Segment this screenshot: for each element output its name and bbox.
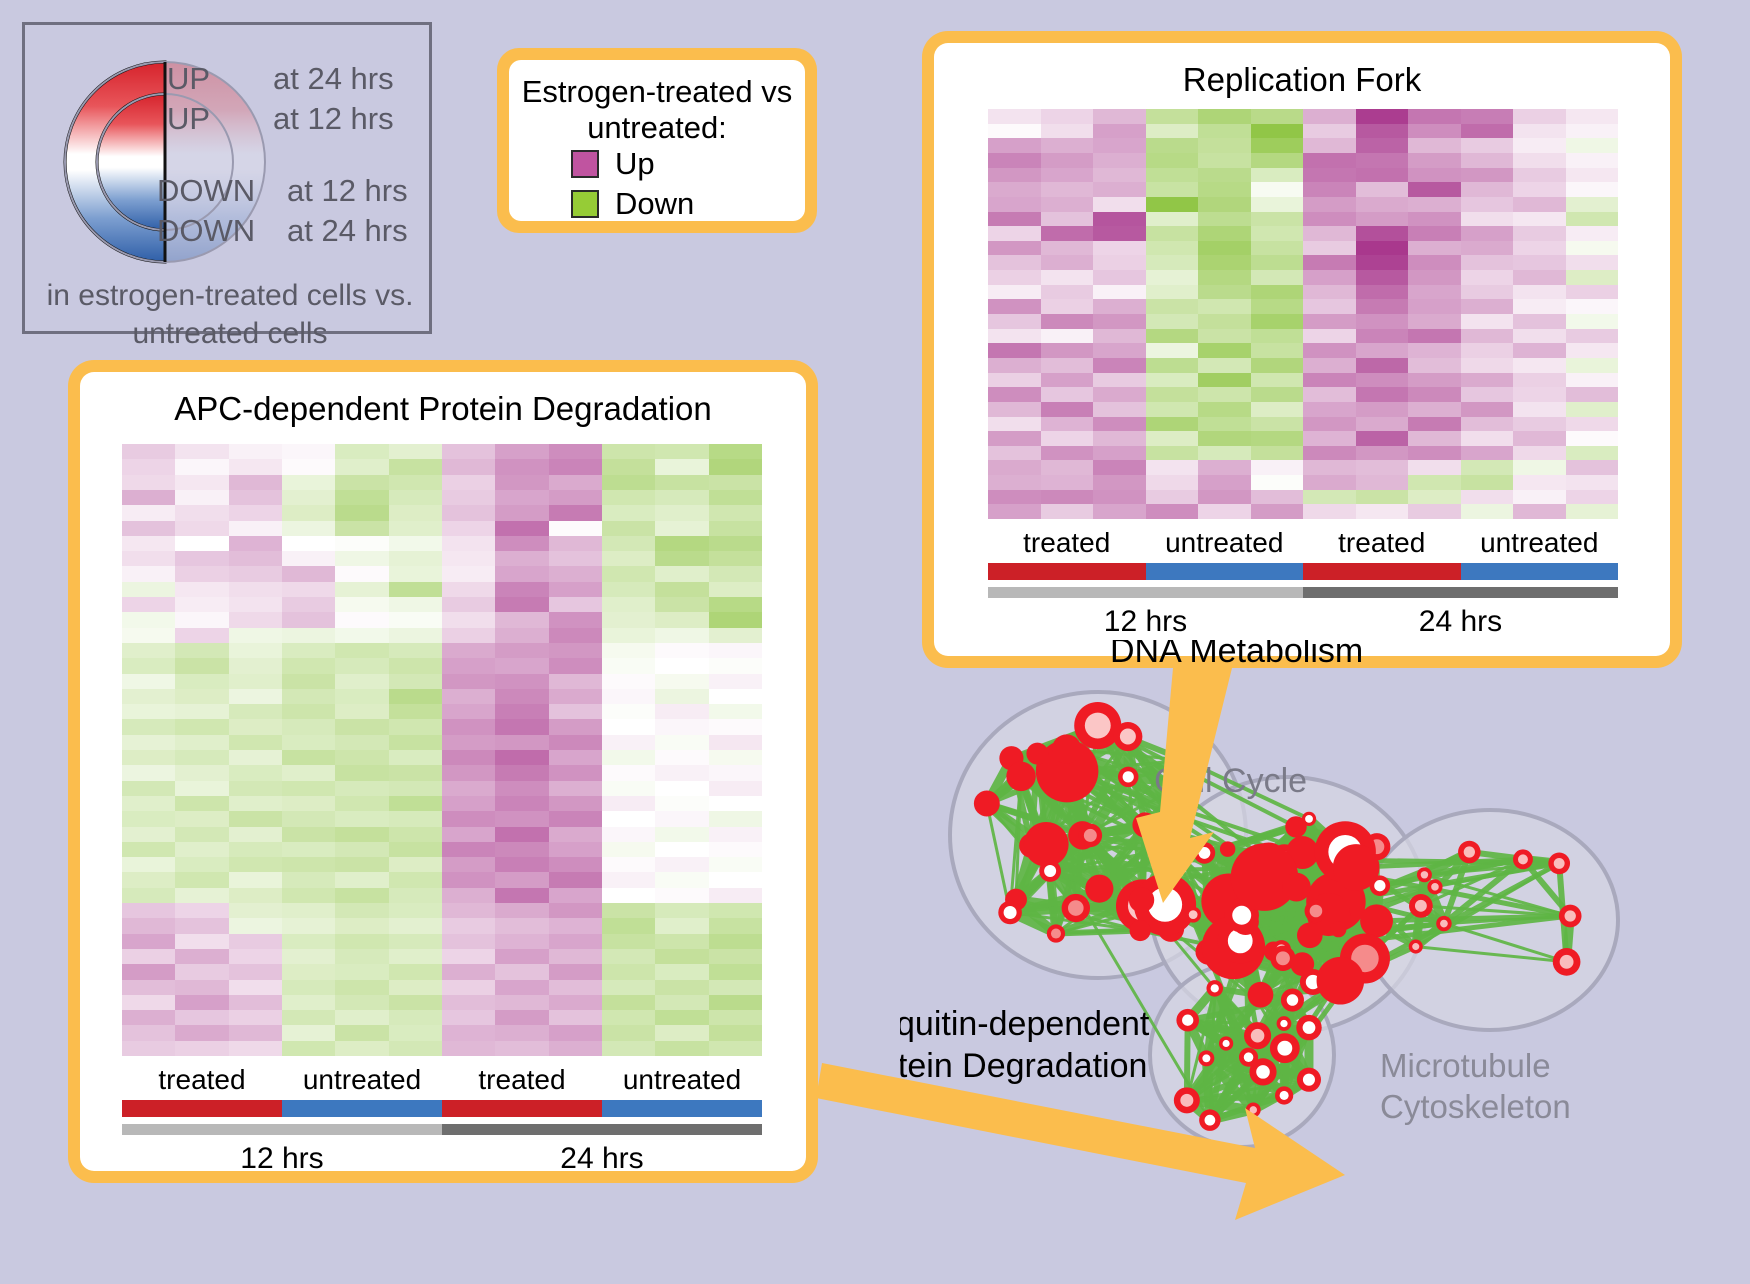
- heatmap-cell: [1251, 197, 1304, 212]
- heatmap-cell: [495, 674, 548, 689]
- heatmap-cell: [1093, 124, 1146, 139]
- heatmap-cell: [1566, 299, 1619, 314]
- node-core: [1415, 900, 1427, 912]
- heatmap-cell: [1303, 255, 1356, 270]
- node-disc: [1024, 822, 1069, 867]
- heatmap-cell: [709, 980, 762, 995]
- network-node[interactable]: [1370, 875, 1391, 896]
- heatmap-cell: [602, 980, 655, 995]
- heatmap-cell: [229, 444, 282, 459]
- network-node[interactable]: [1248, 982, 1274, 1008]
- colorkey-down12-time: at 12 hrs: [287, 173, 408, 209]
- network-node[interactable]: [1198, 1050, 1214, 1066]
- heatmap-cell: [1198, 153, 1251, 168]
- heatmap-cell: [495, 459, 548, 474]
- network-node[interactable]: [1219, 1036, 1233, 1050]
- heatmap-cell: [335, 1010, 388, 1025]
- heatmap-cell: [442, 475, 495, 490]
- heatmap-cell: [282, 918, 335, 933]
- heatmap-cell: [495, 1041, 548, 1056]
- network-node[interactable]: [1458, 841, 1481, 864]
- heatmap-cell: [1146, 504, 1199, 519]
- heatmap-cell: [1408, 109, 1461, 124]
- heatmap-cell: [1566, 153, 1619, 168]
- heatmap-cell: [1251, 373, 1304, 388]
- heatmap-cell: [442, 903, 495, 918]
- heatmap-cell: [175, 750, 228, 765]
- heatmap-cell: [282, 521, 335, 536]
- network-node[interactable]: [1199, 1109, 1220, 1130]
- heatmap-cell: [122, 964, 175, 979]
- network-node[interactable]: [1275, 1086, 1293, 1104]
- heatmap-cell: [175, 521, 228, 536]
- heatmap-cell: [655, 459, 708, 474]
- heatmap-cell: [442, 781, 495, 796]
- heatmap-cell: [602, 704, 655, 719]
- network-node[interactable]: [1156, 840, 1175, 859]
- network-node[interactable]: [1427, 879, 1442, 894]
- heatmap-cell: [1041, 402, 1094, 417]
- heatmap-cell: [1146, 373, 1199, 388]
- heatmap-cell: [1198, 255, 1251, 270]
- network-node[interactable]: [998, 901, 1022, 925]
- heatmap-cell: [988, 373, 1041, 388]
- heatmap-cell: [1093, 255, 1146, 270]
- heatmap-cell: [1198, 109, 1251, 124]
- heatmap-cell: [229, 536, 282, 551]
- network-node[interactable]: [1185, 907, 1201, 923]
- heatmap-cell: [122, 643, 175, 658]
- heatmap-cell: [175, 490, 228, 505]
- heatmap-cell: [442, 551, 495, 566]
- network-node[interactable]: [1024, 822, 1069, 867]
- heatmap-cell: [1093, 343, 1146, 358]
- heatmap-cell: [1041, 314, 1094, 329]
- heatmap-cell: [389, 1010, 442, 1025]
- heatmap-cell: [389, 796, 442, 811]
- network-node[interactable]: [1118, 767, 1138, 787]
- heatmap-cell: [602, 750, 655, 765]
- node-disc: [1085, 875, 1113, 903]
- heatmap-cell: [335, 1041, 388, 1056]
- node-disc: [1132, 812, 1157, 837]
- network-node[interactable]: [1220, 841, 1236, 857]
- heatmap-cell: [389, 811, 442, 826]
- node-core: [1182, 1015, 1193, 1026]
- heatmap-cell: [1513, 373, 1566, 388]
- network-node[interactable]: [1062, 894, 1090, 922]
- replication-fork-panel: Replication Fork treateduntreatedtreated…: [922, 31, 1682, 668]
- heatmap-cell: [1303, 373, 1356, 388]
- heatmap-cell: [495, 536, 548, 551]
- heatmap-cell: [442, 980, 495, 995]
- network-node[interactable]: [1129, 887, 1154, 912]
- heatmap-cell: [442, 842, 495, 857]
- network-node[interactable]: [1417, 867, 1432, 882]
- heatmap-cell: [602, 566, 655, 581]
- heatmap-cell: [1408, 255, 1461, 270]
- network-node[interactable]: [1206, 980, 1223, 997]
- heatmap-cell: [602, 1041, 655, 1056]
- heatmap-cell: [282, 475, 335, 490]
- heatmap-cell: [122, 689, 175, 704]
- heatmap-cell: [1461, 343, 1514, 358]
- heatmap-cell: [602, 949, 655, 964]
- network-node[interactable]: [1296, 1015, 1321, 1040]
- heatmap-cell: [709, 903, 762, 918]
- heatmap-cell: [602, 934, 655, 949]
- heatmap-cell: [229, 781, 282, 796]
- apc-title: APC-dependent Protein Degradation: [80, 390, 806, 428]
- time-label: 24 hrs: [442, 1142, 762, 1176]
- heatmap-cell: [1408, 299, 1461, 314]
- heatmap-cell: [655, 811, 708, 826]
- heatmap-cell: [1303, 299, 1356, 314]
- network-node[interactable]: [1409, 940, 1423, 954]
- heatmap-cell: [1041, 109, 1094, 124]
- heatmap-cell: [122, 459, 175, 474]
- heatmap-cell: [229, 796, 282, 811]
- network-label-dna-metabolism: DNA Metabolism: [1110, 640, 1363, 670]
- network-node[interactable]: [1553, 948, 1581, 976]
- heatmap-cell: [1251, 109, 1304, 124]
- node-disc: [1317, 957, 1365, 1005]
- node-disc: [1297, 922, 1323, 948]
- heatmap-cell: [1251, 124, 1304, 139]
- heatmap-cell: [709, 505, 762, 520]
- heatmap-cell: [389, 735, 442, 750]
- heatmap-cell: [1198, 212, 1251, 227]
- heatmap-cell: [1041, 270, 1094, 285]
- heatmap-cell: [495, 689, 548, 704]
- network-node[interactable]: [1039, 860, 1061, 882]
- heatmap-cell: [1251, 460, 1304, 475]
- heatmap-cell: [1461, 402, 1514, 417]
- heatmap-cell: [335, 521, 388, 536]
- heatmap-cell: [389, 521, 442, 536]
- network-node[interactable]: [1132, 812, 1157, 837]
- heatmap-cell: [549, 521, 602, 536]
- heatmap-cell: [389, 934, 442, 949]
- heatmap-cell: [229, 582, 282, 597]
- heatmap-cell: [442, 918, 495, 933]
- heatmap-cell: [282, 628, 335, 643]
- heatmap-cell: [1461, 124, 1514, 139]
- heatmap-cell: [655, 612, 708, 627]
- heatmap-cell: [335, 704, 388, 719]
- heatmap-cell: [175, 888, 228, 903]
- network-node[interactable]: [1270, 1033, 1300, 1063]
- network-node[interactable]: [1305, 900, 1328, 923]
- heatmap-cell: [122, 811, 175, 826]
- replication-fork-condition-bar: [988, 563, 1618, 580]
- heatmap-cell: [602, 781, 655, 796]
- heatmap-cell: [549, 781, 602, 796]
- heatmap-cell: [549, 536, 602, 551]
- heatmap-cell: [495, 628, 548, 643]
- heatmap-cell: [549, 918, 602, 933]
- heatmap-cell: [495, 765, 548, 780]
- heatmap-cell: [389, 842, 442, 857]
- node-core: [1303, 1074, 1315, 1086]
- heatmap-cell: [602, 521, 655, 536]
- node-disc: [1130, 920, 1151, 941]
- heatmap-cell: [1041, 241, 1094, 256]
- heatmap-cell: [442, 735, 495, 750]
- heatmap-cell: [122, 521, 175, 536]
- heatmap-cell: [1303, 270, 1356, 285]
- heatmap-cell: [709, 719, 762, 734]
- heatmap-cell: [549, 888, 602, 903]
- network-node[interactable]: [1079, 824, 1103, 848]
- heatmap-cell: [549, 444, 602, 459]
- heatmap-cell: [1303, 109, 1356, 124]
- network-node[interactable]: [1559, 905, 1582, 928]
- heatmap-cell: [655, 918, 708, 933]
- heatmap-cell: [495, 811, 548, 826]
- heatmap-cell: [442, 872, 495, 887]
- node-core: [1256, 1065, 1270, 1079]
- node-core: [1051, 929, 1061, 939]
- condition-bar-segment: [988, 563, 1146, 580]
- heatmap-cell: [549, 658, 602, 673]
- network-node[interactable]: [1074, 702, 1121, 749]
- heatmap-cell: [988, 504, 1041, 519]
- heatmap-cell: [1251, 329, 1304, 344]
- heatmap-cell: [1303, 475, 1356, 490]
- heatmap-cell: [122, 1041, 175, 1056]
- network-node[interactable]: [1297, 1068, 1321, 1092]
- heatmap-cell: [442, 796, 495, 811]
- heatmap-cell: [988, 358, 1041, 373]
- network-node[interactable]: [1006, 762, 1035, 791]
- network-node[interactable]: [1317, 957, 1365, 1005]
- heatmap-cell: [389, 964, 442, 979]
- heatmap-cell: [549, 827, 602, 842]
- heatmap-cell: [1513, 255, 1566, 270]
- heatmap-cell: [655, 582, 708, 597]
- heatmap-cell: [655, 490, 708, 505]
- heatmap-cell: [495, 582, 548, 597]
- network-node[interactable]: [1436, 916, 1451, 931]
- network-node[interactable]: [1047, 924, 1065, 942]
- heatmap-cell: [442, 628, 495, 643]
- heatmap-cell: [549, 475, 602, 490]
- heatmap-cell: [1198, 387, 1251, 402]
- heatmap-cell: [1513, 490, 1566, 505]
- condition-label: treated: [122, 1064, 282, 1096]
- network-node[interactable]: [1194, 842, 1216, 864]
- node-core: [1280, 1091, 1289, 1100]
- heatmap-cell: [282, 781, 335, 796]
- heatmap-cell: [1513, 417, 1566, 432]
- heatmap-cell: [495, 704, 548, 719]
- heatmap-cell: [1198, 285, 1251, 300]
- heatmap-cell: [1198, 446, 1251, 461]
- heatmap-cell: [1408, 417, 1461, 432]
- heatmap-cell: [1146, 212, 1199, 227]
- heatmap-cell: [175, 949, 228, 964]
- heatmap-cell: [282, 934, 335, 949]
- network-node[interactable]: [1513, 849, 1533, 869]
- heatmap-cell: [495, 505, 548, 520]
- network-node[interactable]: [1085, 875, 1113, 903]
- heatmap-cell: [1041, 138, 1094, 153]
- network-node[interactable]: [1246, 1102, 1261, 1117]
- heatmap-cell: [709, 857, 762, 872]
- heatmap-cell: [389, 980, 442, 995]
- network-node[interactable]: [1239, 1048, 1258, 1067]
- heatmap-cell: [988, 226, 1041, 241]
- heatmap-cell: [988, 270, 1041, 285]
- network-node[interactable]: [1113, 722, 1142, 751]
- heatmap-cell: [549, 704, 602, 719]
- heatmap-cell: [602, 1010, 655, 1025]
- network-node[interactable]: [1409, 894, 1433, 918]
- heatmap-cell: [122, 612, 175, 627]
- network-node[interactable]: [1052, 734, 1081, 763]
- heatmap-cell: [175, 765, 228, 780]
- heatmap-cell: [122, 781, 175, 796]
- heatmap-cell: [442, 995, 495, 1010]
- heatmap-cell: [442, 827, 495, 842]
- network-node[interactable]: [1244, 1022, 1271, 1049]
- heatmap-cell: [175, 918, 228, 933]
- heatmap-cell: [335, 444, 388, 459]
- heatmap-cell: [602, 628, 655, 643]
- heatmap-cell: [442, 459, 495, 474]
- condition-label: untreated: [1461, 527, 1619, 559]
- network-node[interactable]: [1176, 1009, 1199, 1032]
- heatmap-cell: [1198, 124, 1251, 139]
- heatmap-cell: [335, 827, 388, 842]
- heatmap-cell: [1041, 299, 1094, 314]
- heatmap-cell: [229, 551, 282, 566]
- heatmap-cell: [1093, 182, 1146, 197]
- network-svg: DNA MetabolismCell CycleMicrotubuleCytos…: [900, 640, 1750, 1279]
- heatmap-cell: [1041, 475, 1094, 490]
- network-node[interactable]: [1130, 920, 1151, 941]
- heatmap-cell: [495, 444, 548, 459]
- heatmap-cell: [175, 674, 228, 689]
- heatmap-cell: [1041, 182, 1094, 197]
- heatmap-cell: [1461, 182, 1514, 197]
- network-node[interactable]: [1281, 988, 1304, 1011]
- heatmap-cell: [229, 842, 282, 857]
- heatmap-cell: [122, 490, 175, 505]
- heatmap-cell: [655, 857, 708, 872]
- node-disc: [1220, 841, 1236, 857]
- heatmap-cell: [175, 964, 228, 979]
- heatmap-cell: [1513, 387, 1566, 402]
- heatmap-cell: [1461, 270, 1514, 285]
- heatmap-cell: [709, 674, 762, 689]
- heatmap-cell: [1198, 138, 1251, 153]
- heatmap-cell: [655, 980, 708, 995]
- network-node[interactable]: [1285, 816, 1306, 837]
- heatmap-cell: [1093, 109, 1146, 124]
- heatmap-cell: [389, 444, 442, 459]
- heatmap-cell: [549, 842, 602, 857]
- heatmap-cell: [175, 842, 228, 857]
- network-node[interactable]: [1277, 1016, 1292, 1031]
- network-node[interactable]: [1548, 853, 1570, 875]
- node-disc: [1330, 921, 1346, 937]
- network-node[interactable]: [1174, 1087, 1200, 1113]
- heatmap-cell: [1198, 299, 1251, 314]
- heatmap-cell: [988, 255, 1041, 270]
- heatmap-cell: [495, 949, 548, 964]
- heatmap-cell: [1041, 285, 1094, 300]
- heatmap-cell: [442, 750, 495, 765]
- network-node[interactable]: [1360, 904, 1393, 937]
- heatmap-cell: [1356, 504, 1409, 519]
- heatmap-cell: [1041, 417, 1094, 432]
- heatmap-cell: [549, 995, 602, 1010]
- heatmap-cell: [229, 597, 282, 612]
- heatmap-cell: [655, 521, 708, 536]
- heatmap-cell: [175, 934, 228, 949]
- condition-bar-segment: [442, 1100, 602, 1117]
- heatmap-cell: [549, 719, 602, 734]
- heatmap-cell: [655, 597, 708, 612]
- heatmap-cell: [1251, 490, 1304, 505]
- network-node[interactable]: [1297, 922, 1323, 948]
- network-label-microtubule-cytoskeleton: Cytoskeleton: [1380, 1088, 1571, 1125]
- network-node[interactable]: [1290, 952, 1314, 976]
- heatmap-cell: [1041, 490, 1094, 505]
- heatmap-cell: [1198, 314, 1251, 329]
- heatmap-cell: [495, 980, 548, 995]
- condition-bar-segment: [122, 1100, 282, 1117]
- heatmap-cell: [335, 459, 388, 474]
- node-core: [1412, 943, 1419, 950]
- heatmap-cell: [442, 521, 495, 536]
- network-node[interactable]: [974, 791, 1000, 817]
- heatmap-cell: [1146, 329, 1199, 344]
- heatmap-cell: [1303, 417, 1356, 432]
- legend-up-label: Up: [615, 148, 655, 179]
- network-node[interactable]: [1168, 816, 1185, 833]
- heatmap-cell: [1303, 285, 1356, 300]
- network-node[interactable]: [1282, 873, 1311, 902]
- heatmap-cell: [122, 582, 175, 597]
- heatmap-cell: [1093, 168, 1146, 183]
- heatmap-cell: [1093, 475, 1146, 490]
- heatmap-cell: [1146, 475, 1199, 490]
- heatmap-cell: [1146, 153, 1199, 168]
- condition-bar-segment: [1461, 563, 1619, 580]
- heatmap-cell: [1303, 197, 1356, 212]
- heatmap-cell: [1356, 153, 1409, 168]
- heatmap-cell: [709, 566, 762, 581]
- heatmap-cell: [229, 995, 282, 1010]
- heatmap-cell: [1251, 387, 1304, 402]
- heatmap-cell: [1041, 168, 1094, 183]
- network-node[interactable]: [1330, 921, 1346, 937]
- heatmap-cell: [549, 566, 602, 581]
- heatmap-cell: [709, 888, 762, 903]
- heatmap-cell: [175, 658, 228, 673]
- network-node[interactable]: [1026, 743, 1048, 765]
- node-disc: [1290, 952, 1314, 976]
- time-label: 12 hrs: [988, 605, 1303, 639]
- heatmap-cell: [655, 628, 708, 643]
- heatmap-cell: [1356, 241, 1409, 256]
- network-label-ubiquitin-dependent-protein-degradation: Protein Degradation: [900, 1047, 1147, 1085]
- heatmap-cell: [709, 597, 762, 612]
- heatmap-cell: [988, 299, 1041, 314]
